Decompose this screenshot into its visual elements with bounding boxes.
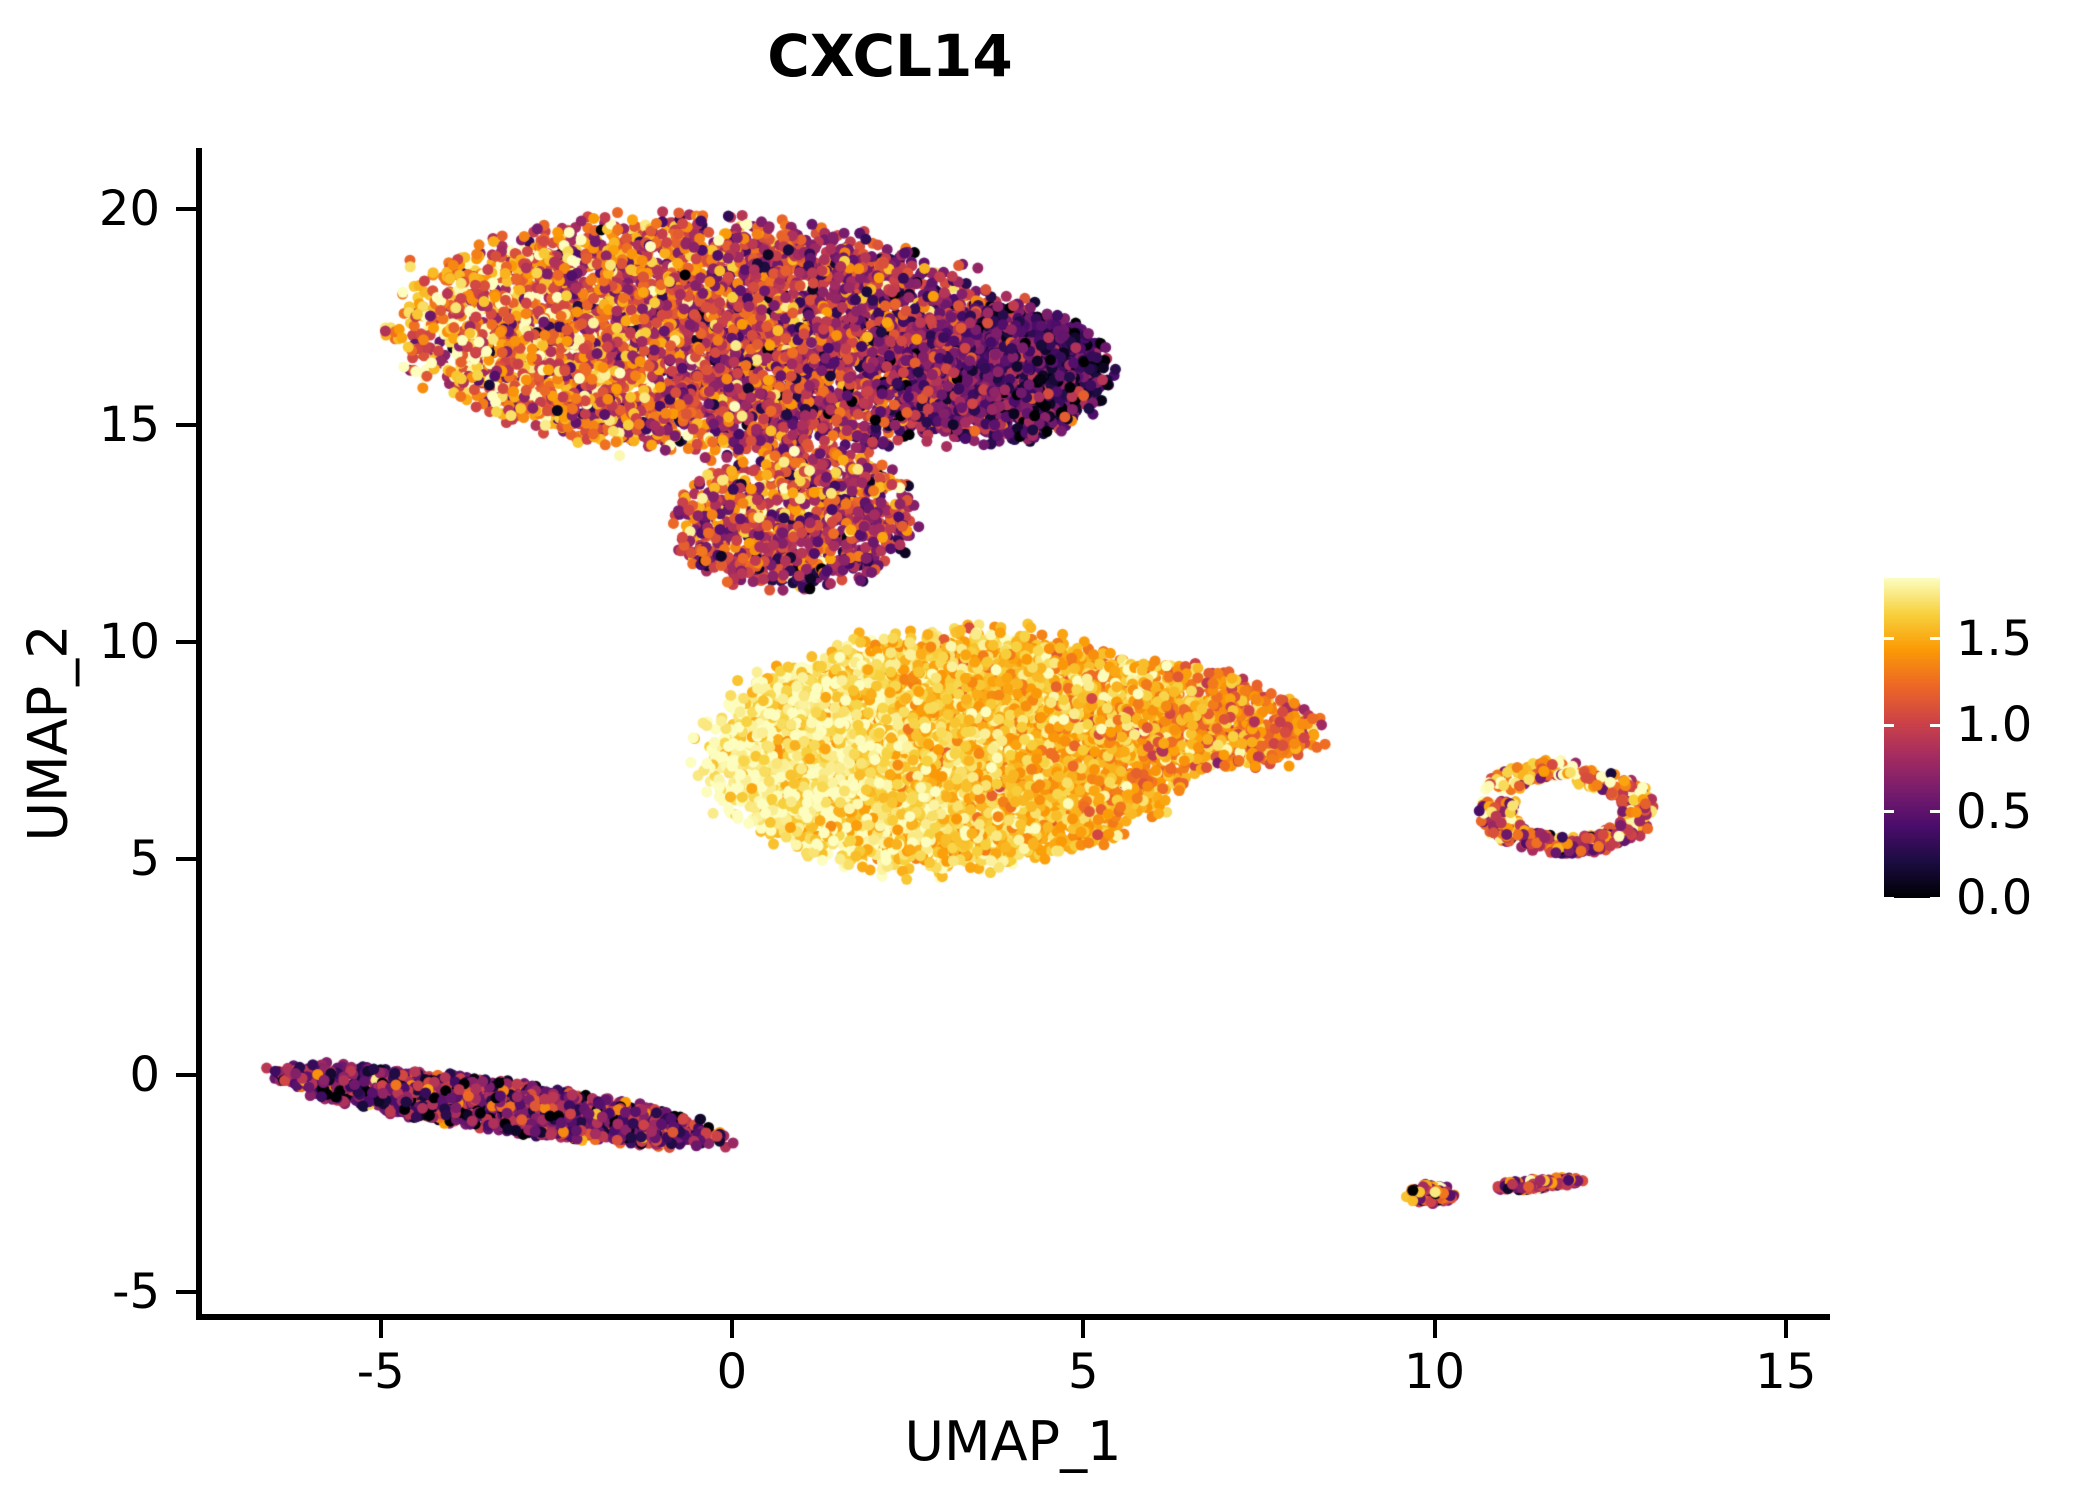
figure-root: CXCL14 -5051015 -505101520 UMAP_1 UMAP_2… bbox=[0, 0, 2100, 1500]
y-axis-label: UMAP_2 bbox=[17, 625, 80, 842]
x-tick-mark bbox=[1784, 1320, 1788, 1338]
x-tick-mark bbox=[379, 1320, 383, 1338]
y-tick-mark bbox=[176, 1073, 196, 1077]
colorbar-tick-mark bbox=[1930, 897, 1940, 900]
colorbar-tick-mark bbox=[1884, 810, 1894, 813]
y-tick-label: 0 bbox=[129, 1047, 160, 1103]
umap-scatter-canvas bbox=[198, 148, 1828, 1318]
y-axis-spine bbox=[196, 148, 202, 1320]
colorbar-tick-label: 0.0 bbox=[1956, 870, 2032, 926]
y-tick-label: 15 bbox=[99, 397, 160, 453]
colorbar-gradient bbox=[1884, 578, 1940, 898]
x-axis-label: UMAP_1 bbox=[198, 1410, 1828, 1473]
x-tick-mark bbox=[730, 1320, 734, 1338]
scatter-plot-axes: -5051015 -505101520 UMAP_1 UMAP_2 bbox=[198, 148, 1828, 1318]
x-tick-label: 5 bbox=[1068, 1344, 1099, 1400]
y-tick-label: 10 bbox=[99, 614, 160, 670]
y-tick-mark bbox=[176, 207, 196, 211]
y-tick-mark bbox=[176, 423, 196, 427]
colorbar-tick-mark bbox=[1884, 637, 1894, 640]
colorbar-tick-label: 1.5 bbox=[1956, 611, 2032, 667]
x-tick-mark bbox=[1433, 1320, 1437, 1338]
colorbar-tick-mark bbox=[1930, 637, 1940, 640]
y-tick-label: 5 bbox=[129, 831, 160, 887]
x-tick-label: 10 bbox=[1404, 1344, 1465, 1400]
y-tick-label: 20 bbox=[99, 181, 160, 237]
x-tick-label: -5 bbox=[357, 1344, 405, 1400]
y-tick-mark bbox=[176, 640, 196, 644]
colorbar-legend: 0.00.51.01.5 bbox=[1884, 578, 1940, 898]
x-tick-label: 0 bbox=[717, 1344, 748, 1400]
colorbar-tick-mark bbox=[1930, 810, 1940, 813]
y-tick-mark bbox=[176, 1290, 196, 1294]
page-title: CXCL14 bbox=[0, 22, 1780, 90]
colorbar-tick-label: 0.5 bbox=[1956, 784, 2032, 840]
x-tick-label: 15 bbox=[1755, 1344, 1816, 1400]
x-tick-mark bbox=[1081, 1320, 1085, 1338]
colorbar-tick-mark bbox=[1884, 897, 1894, 900]
y-tick-mark bbox=[176, 857, 196, 861]
colorbar-tick-mark bbox=[1930, 724, 1940, 727]
colorbar-tick-label: 1.0 bbox=[1956, 697, 2032, 753]
y-tick-label: -5 bbox=[112, 1264, 160, 1320]
colorbar-tick-mark bbox=[1884, 724, 1894, 727]
x-axis-spine bbox=[196, 1314, 1830, 1320]
